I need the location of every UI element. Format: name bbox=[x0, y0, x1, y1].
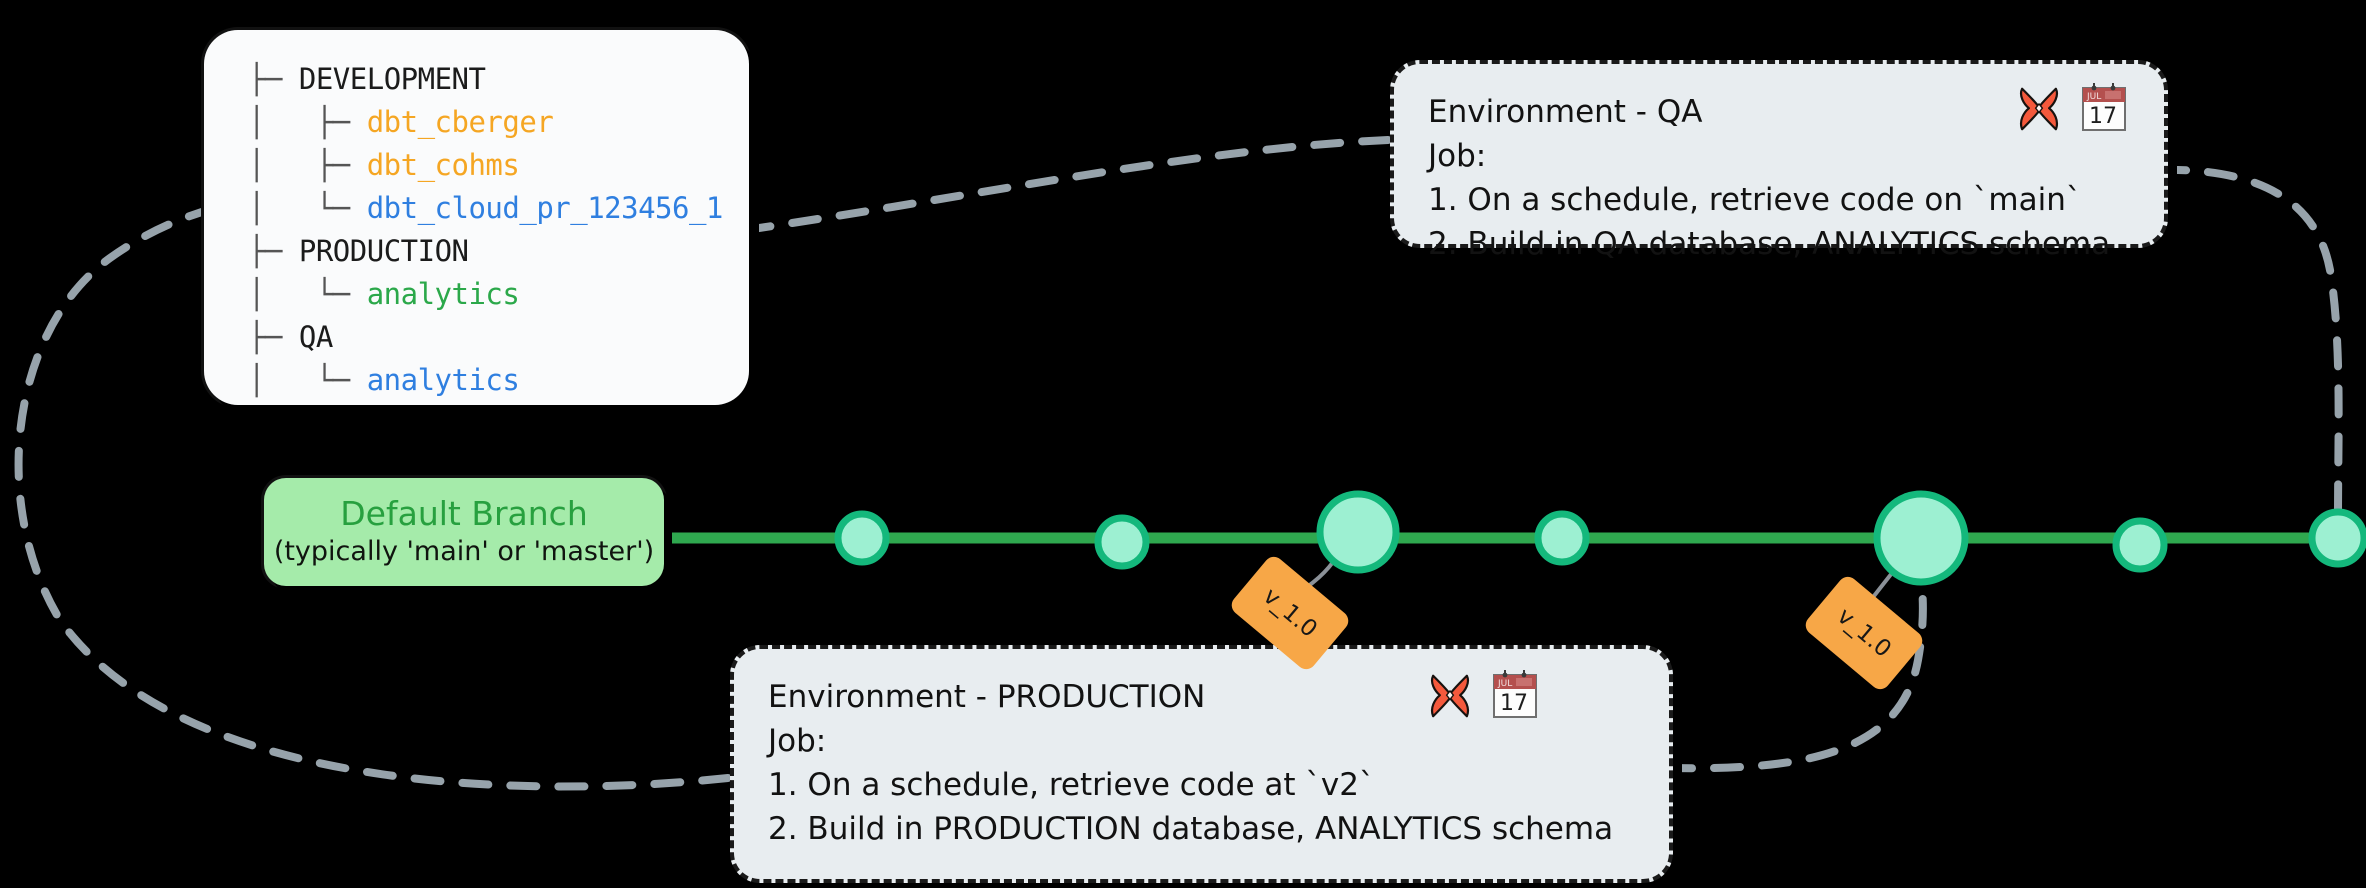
commit-node[interactable] bbox=[1538, 514, 1586, 562]
cross-mark-icon bbox=[1423, 669, 1477, 723]
tree-branch-glyph: │ ├─ bbox=[248, 105, 367, 139]
note-production-job-label: Job: bbox=[768, 719, 1635, 763]
tree-branch-glyph: │ └─ bbox=[248, 277, 367, 311]
note-production-icons: JUL 17 bbox=[1423, 669, 1539, 723]
tree-row[interactable]: │ ├─ dbt_cohms bbox=[248, 144, 749, 187]
tree-row-label: QA bbox=[299, 320, 333, 354]
svg-text:17: 17 bbox=[2089, 104, 2117, 129]
calendar-icon: JUL 17 bbox=[2080, 82, 2128, 134]
commit-node[interactable] bbox=[1877, 494, 1965, 582]
diagram-canvas: ├─ DEVELOPMENT│ ├─ dbt_cberger│ ├─ dbt_c… bbox=[0, 0, 2366, 888]
default-branch-label: Default Branch (typically 'main' or 'mas… bbox=[264, 478, 664, 586]
wire-qa-to-commit bbox=[2160, 170, 2339, 512]
commit-node[interactable] bbox=[2116, 521, 2164, 569]
tree-row-label: dbt_cloud_pr_123456_1 bbox=[367, 191, 723, 225]
note-qa-job-label: Job: bbox=[1428, 134, 2130, 178]
tree-branch-glyph: │ ├─ bbox=[248, 148, 367, 182]
tree-branch-glyph: ├─ bbox=[248, 62, 299, 96]
calendar-icon: JUL 17 bbox=[1491, 669, 1539, 721]
environment-qa-note[interactable]: JUL 17 Environment - QA Job: 1. On a sch… bbox=[1390, 60, 2168, 248]
tree-branch-glyph: │ └─ bbox=[248, 191, 367, 225]
commit-node[interactable] bbox=[1320, 494, 1396, 570]
tree-row-label: DEVELOPMENT bbox=[299, 62, 486, 96]
svg-text:JUL: JUL bbox=[2086, 92, 2101, 102]
note-production-step-2: 2. Build in PRODUCTION database, ANALYTI… bbox=[768, 807, 1635, 851]
tree-row[interactable]: ├─ DEVELOPMENT bbox=[248, 58, 749, 101]
tree-row[interactable]: ├─ QA bbox=[248, 316, 749, 359]
tree-lines: ├─ DEVELOPMENT│ ├─ dbt_cberger│ ├─ dbt_c… bbox=[204, 30, 749, 402]
tree-branch-glyph: ├─ bbox=[248, 234, 299, 268]
tree-row[interactable]: │ ├─ dbt_cberger bbox=[248, 101, 749, 144]
tree-branch-glyph: │ └─ bbox=[248, 363, 367, 397]
note-qa-icons: JUL 17 bbox=[2012, 82, 2128, 136]
note-qa-step-2: 2. Build in QA database, ANALYTICS schem… bbox=[1428, 222, 2130, 266]
environment-production-note[interactable]: JUL 17 Environment - PRODUCTION Job: 1. … bbox=[730, 645, 1673, 883]
tree-branch-glyph: ├─ bbox=[248, 320, 299, 354]
tree-row[interactable]: │ └─ analytics bbox=[248, 273, 749, 316]
note-qa-step-1: 1. On a schedule, retrieve code on `main… bbox=[1428, 178, 2130, 222]
svg-text:17: 17 bbox=[1500, 691, 1528, 716]
tree-row-label: dbt_cohms bbox=[367, 148, 520, 182]
tree-row-label: analytics bbox=[367, 277, 520, 311]
tree-row-label: analytics bbox=[367, 363, 520, 397]
tree-row-label: dbt_cberger bbox=[367, 105, 554, 139]
default-branch-subtitle: (typically 'main' or 'master') bbox=[274, 534, 654, 570]
tree-row[interactable]: ├─ PRODUCTION bbox=[248, 230, 749, 273]
commit-node[interactable] bbox=[1098, 518, 1146, 566]
svg-text:JUL: JUL bbox=[1497, 679, 1512, 689]
tree-row-label: PRODUCTION bbox=[299, 234, 469, 268]
tree-row[interactable]: │ └─ analytics bbox=[248, 359, 749, 402]
default-branch-title: Default Branch bbox=[340, 494, 587, 534]
tree-row[interactable]: │ └─ dbt_cloud_pr_123456_1 bbox=[248, 187, 749, 230]
environment-folder-tree-card: ├─ DEVELOPMENT│ ├─ dbt_cberger│ ├─ dbt_c… bbox=[204, 30, 749, 405]
cross-mark-icon bbox=[2012, 82, 2066, 136]
commit-node[interactable] bbox=[2312, 512, 2364, 564]
commit-node[interactable] bbox=[838, 514, 886, 562]
note-production-step-1: 1. On a schedule, retrieve code at `v2` bbox=[768, 763, 1635, 807]
